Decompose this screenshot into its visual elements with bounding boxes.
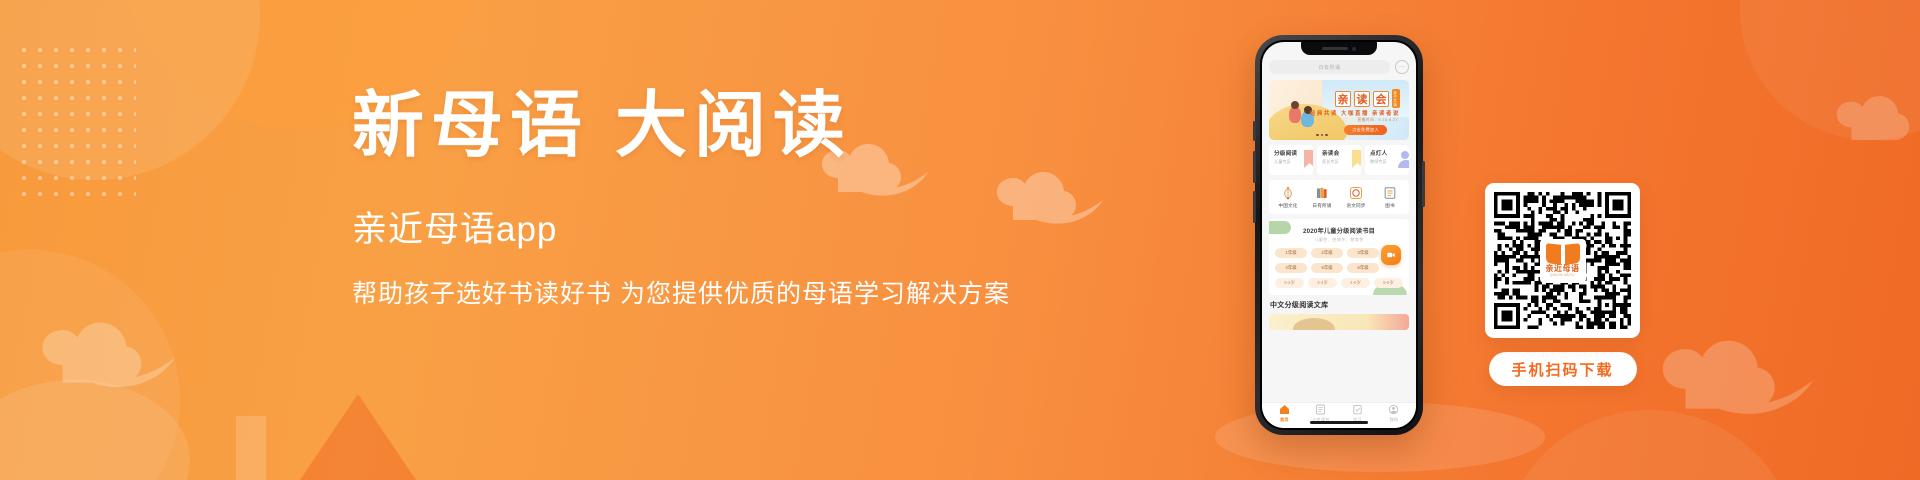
- hero-char: 读: [1354, 91, 1370, 107]
- search-row: 日有所诵 ···: [1269, 60, 1409, 74]
- circle-arrow-icon: [1349, 186, 1363, 200]
- brand-logo: 亲近母语 QINJIN MUYU: [1540, 239, 1586, 283]
- bookmark-icon: [1350, 150, 1361, 168]
- hero-char: 亲: [1335, 91, 1351, 107]
- library-illustration: [1293, 318, 1335, 330]
- clipboard-check-icon: [1352, 404, 1363, 415]
- tab-label: 我的: [1390, 417, 1398, 423]
- home-indicator: [1310, 421, 1368, 424]
- decor-blob-bottomleft: [0, 380, 190, 480]
- quick-icon-chinese-sync[interactable]: 语文同步: [1339, 186, 1373, 209]
- tab-profile[interactable]: 我的: [1376, 404, 1413, 423]
- booklist-subtitle: 儿童性、经典性、教育性: [1275, 237, 1403, 243]
- quick-icon-label: 中国文化: [1278, 203, 1297, 209]
- app-name: 亲近母语app: [352, 208, 1012, 252]
- quick-icon-books[interactable]: 图书: [1373, 186, 1407, 209]
- cloud-icon: [995, 168, 1115, 228]
- hero-child-illustration: [1289, 106, 1301, 123]
- phone-bezel: 日有所诵 ··· 亲 读 会: [1260, 40, 1418, 430]
- brand-name-cn: 亲近母语: [1546, 265, 1580, 273]
- tab-label: 首页: [1280, 417, 1288, 423]
- lantern-icon: [1281, 186, 1295, 200]
- zone-card-teacher[interactable]: 点灯人 教师专区: [1365, 145, 1409, 175]
- hero-title: 亲 读 会 亲子共读: [1335, 89, 1400, 108]
- page-title: 新母语大阅读: [352, 88, 1012, 166]
- promo-banner: 新母语大阅读 亲近母语app 帮助孩子选好书读好书 为您提供优质的母语学习解决方…: [0, 0, 1920, 480]
- grade-chip[interactable]: 4年级: [1275, 263, 1307, 273]
- decor-circle-topleft: [0, 0, 260, 180]
- banner-tagline: 帮助孩子选好书读好书 为您提供优质的母语学习解决方案: [352, 278, 1012, 311]
- app-screen: 日有所诵 ··· 亲 读 会: [1262, 42, 1416, 428]
- phone-power-button: [1422, 161, 1425, 207]
- grade-chip[interactable]: 2年级: [1311, 248, 1343, 258]
- message-icon[interactable]: ···: [1395, 60, 1409, 74]
- leaf-decoration: [1269, 221, 1291, 234]
- app-content: 日有所诵 ··· 亲 读 会: [1262, 42, 1416, 402]
- library-section-title: 中文分级阅读文库: [1270, 300, 1409, 310]
- phone-volume-up-button: [1253, 151, 1256, 183]
- phone-mute-switch: [1253, 121, 1256, 141]
- book-stack-icon: [1315, 186, 1329, 200]
- qr-code[interactable]: 亲近母语 QINJIN MUYU: [1485, 183, 1640, 338]
- decor-strip: [236, 416, 266, 480]
- zone-card-parent[interactable]: 亲读会 家长专区: [1317, 145, 1361, 175]
- phone-frame: 日有所诵 ··· 亲 读 会: [1255, 35, 1423, 435]
- brand-name-en: QINJIN MUYU: [1550, 274, 1575, 277]
- phone-mockup: 日有所诵 ··· 亲 读 会: [1255, 35, 1423, 435]
- phone-notch: [1301, 42, 1377, 55]
- zone-cards: 分级阅读 儿童专区 亲读会 家长专区 点灯人 教师专: [1269, 145, 1409, 175]
- video-play-icon[interactable]: [1381, 245, 1401, 265]
- grade-chip[interactable]: 6年级: [1347, 263, 1379, 273]
- quick-icon-label: 图书: [1385, 203, 1395, 209]
- open-book-icon: [1546, 244, 1580, 264]
- hero-cta-button[interactable]: 点击免费加入: [1344, 125, 1387, 135]
- phone-volume-down-button: [1253, 191, 1256, 223]
- booklist-title: 2020年儿童分级阅读书目: [1275, 226, 1403, 235]
- hero-banner-card[interactable]: 亲 读 会 亲子共读 经典共读 大咖直播 亲读者说 直播时间：9.16-9.27…: [1269, 80, 1409, 140]
- quick-icon-label: 日有所诵: [1312, 203, 1331, 209]
- person-icon: [1398, 150, 1409, 168]
- quick-icon-label: 语文同步: [1346, 203, 1365, 209]
- tab-home[interactable]: 首页: [1266, 404, 1303, 423]
- cloud-icon: [1835, 90, 1920, 150]
- decor-circle-topright: [1740, 0, 1920, 140]
- decor-triangle: [300, 394, 416, 480]
- hero-char: 会: [1373, 91, 1389, 107]
- hero-subtitle: 经典共读 大咖直播 亲读者说: [1310, 109, 1400, 117]
- quick-icon-daily-recitation[interactable]: 日有所诵: [1305, 186, 1339, 209]
- bottom-tabbar: 首页 小步读书 学习: [1262, 402, 1416, 428]
- download-button[interactable]: 手机扫码下载: [1489, 352, 1637, 386]
- age-chip[interactable]: 4-5岁: [1341, 278, 1370, 288]
- headline-part-1: 新母语: [352, 86, 589, 166]
- book-icon: [1383, 186, 1397, 200]
- banner-copy: 新母语大阅读 亲近母语app 帮助孩子选好书读好书 为您提供优质的母语学习解决方…: [352, 88, 1012, 310]
- user-icon: [1388, 404, 1399, 415]
- cloud-icon: [40, 315, 190, 395]
- age-chip[interactable]: 0-3岁: [1275, 278, 1304, 288]
- headline-part-2: 大阅读: [615, 86, 852, 166]
- bookmark-icon: [1302, 150, 1313, 168]
- zone-card-graded-reading[interactable]: 分级阅读 儿童专区: [1269, 145, 1313, 175]
- grade-chip[interactable]: 5年级: [1311, 263, 1343, 273]
- quick-icon-chinese-culture[interactable]: 中国文化: [1271, 186, 1305, 209]
- qr-download-block: 亲近母语 QINJIN MUYU 手机扫码下载: [1485, 183, 1640, 386]
- booklist-card: 2020年儿童分级阅读书目 儿童性、经典性、教育性 1年级 2年级 3年级: [1269, 219, 1409, 295]
- qr-pixels: 亲近母语 QINJIN MUYU: [1494, 192, 1631, 329]
- camera-icon: [1352, 47, 1356, 51]
- age-chip-row: 0-3岁 3-4岁 4-5岁 5-6岁: [1275, 278, 1403, 288]
- decor-circle-bottomleft: [0, 250, 180, 480]
- hero-side-tag: 亲子共读: [1392, 89, 1400, 108]
- library-card[interactable]: [1269, 314, 1409, 330]
- speaker-icon: [1322, 47, 1348, 50]
- home-icon: [1279, 404, 1290, 415]
- list-icon: [1315, 404, 1326, 415]
- grade-chip-row-2: 4年级 5年级 6年级: [1275, 263, 1403, 273]
- age-chip[interactable]: 5-6岁: [1374, 278, 1403, 288]
- grade-chip[interactable]: 3年级: [1347, 248, 1379, 258]
- quick-icon-row: 中国文化 日有所诵: [1269, 180, 1409, 214]
- decor-circle-bottomright: [1500, 410, 1800, 480]
- hero-date: 直播时间：9.16-9.27: [1357, 118, 1398, 123]
- carousel-dots[interactable]: [1316, 134, 1328, 137]
- age-chip[interactable]: 3-4岁: [1308, 278, 1337, 288]
- cloud-icon: [1660, 330, 1830, 425]
- decor-dot-grid: [16, 42, 136, 197]
- search-input[interactable]: 日有所诵: [1269, 60, 1390, 74]
- grade-chip[interactable]: 1年级: [1275, 248, 1307, 258]
- grade-chip-row-1: 1年级 2年级 3年级: [1275, 248, 1403, 258]
